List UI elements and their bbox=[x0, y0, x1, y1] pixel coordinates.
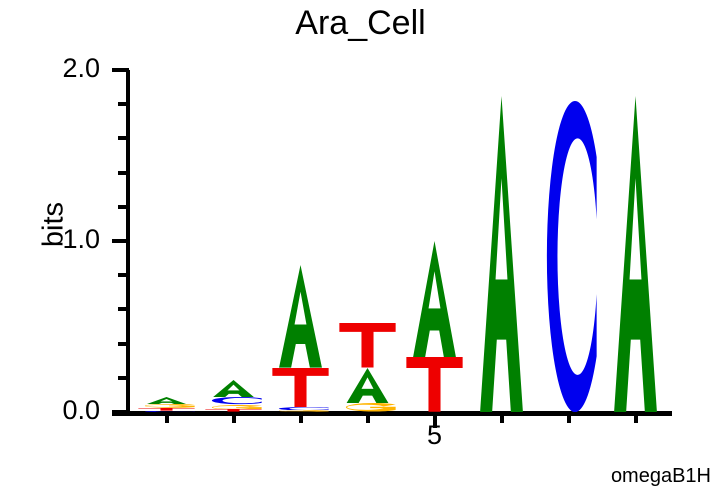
logo-stack-letters bbox=[535, 70, 602, 412]
x-tick bbox=[232, 415, 236, 423]
y-tick-minor bbox=[118, 102, 129, 106]
logo-letter-t bbox=[401, 357, 468, 412]
logo-stack bbox=[535, 70, 602, 412]
y-tick-major bbox=[112, 239, 129, 243]
y-tick-minor bbox=[118, 68, 129, 72]
logo-stack bbox=[334, 70, 401, 412]
y-tick-minor bbox=[118, 273, 129, 277]
y-tick-label: 0.0 bbox=[40, 397, 100, 424]
logo-letter-t bbox=[334, 323, 401, 367]
logo-stack bbox=[267, 70, 334, 412]
y-tick-minor bbox=[118, 376, 129, 380]
logo-stack-letters bbox=[602, 70, 669, 412]
y-tick-minor bbox=[118, 136, 129, 140]
logo-letter-c bbox=[535, 101, 602, 412]
logo-letter-g bbox=[334, 403, 401, 412]
x-tick bbox=[299, 415, 303, 423]
logo-letter-t bbox=[267, 368, 334, 407]
logo-letter-a bbox=[468, 96, 535, 412]
logo-letter-a bbox=[602, 96, 669, 412]
logo-letter-c bbox=[133, 411, 200, 412]
y-tick-minor bbox=[118, 342, 129, 346]
logo-letter-g bbox=[267, 410, 334, 412]
logo-letter-a bbox=[334, 368, 401, 404]
y-tick-label: 1.0 bbox=[40, 226, 100, 253]
x-tick bbox=[366, 415, 370, 423]
logo-letter-t bbox=[200, 409, 267, 412]
logo-stack bbox=[200, 70, 267, 412]
logo-stack-letters bbox=[334, 70, 401, 412]
logo-stack bbox=[401, 70, 468, 412]
y-tick-label: 2.0 bbox=[40, 55, 100, 82]
logo-stack-letters bbox=[267, 70, 334, 412]
logo-stack-letters bbox=[200, 70, 267, 412]
logo-letter-a bbox=[200, 380, 267, 398]
x-tick bbox=[500, 415, 504, 423]
logo-letter-a bbox=[133, 397, 200, 405]
logo-plot-area bbox=[133, 70, 669, 412]
logo-stack-letters bbox=[468, 70, 535, 412]
logo-stack-letters bbox=[401, 70, 468, 412]
y-tick-minor bbox=[118, 171, 129, 175]
logo-stack bbox=[602, 70, 669, 412]
logo-stack bbox=[133, 70, 200, 412]
x-tick bbox=[165, 415, 169, 423]
footer-label: omegaB1H bbox=[611, 465, 711, 488]
logo-letter-a bbox=[401, 241, 468, 357]
logo-letter-a bbox=[267, 265, 334, 368]
chart-title: Ara_Cell bbox=[0, 4, 721, 43]
y-tick-minor bbox=[118, 307, 129, 311]
logo-letter-c bbox=[200, 397, 267, 404]
sequence-logo-figure: Ara_Cell bits 0.01.02.0 5 omegaB1H bbox=[0, 0, 721, 496]
x-tick-label: 5 bbox=[405, 420, 465, 451]
y-tick-major bbox=[112, 410, 129, 414]
logo-stack-letters bbox=[133, 70, 200, 412]
x-tick bbox=[634, 415, 638, 423]
logo-stack bbox=[468, 70, 535, 412]
x-tick bbox=[567, 415, 571, 423]
y-tick-minor bbox=[118, 205, 129, 209]
